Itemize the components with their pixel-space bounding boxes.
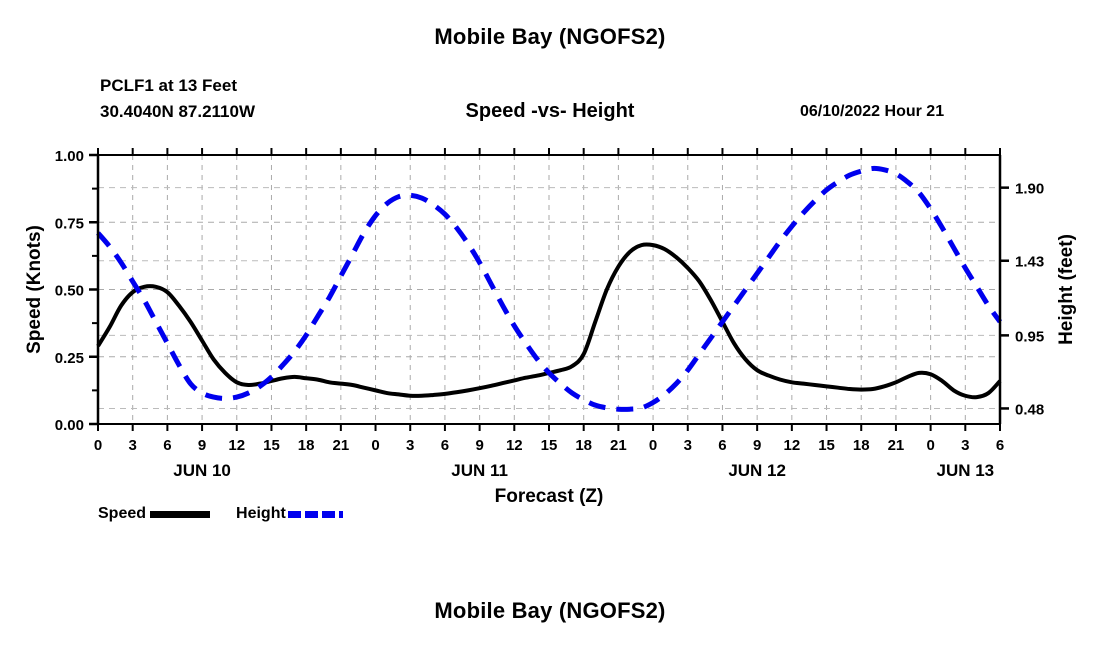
x-tick-label: 3 — [406, 437, 414, 454]
x-tick-label: 6 — [996, 437, 1004, 454]
x-tick-label: 0 — [371, 437, 379, 454]
y-left-tick-label: 0.00 — [55, 417, 84, 434]
x-tick-label: 0 — [94, 437, 102, 454]
x-tick-label: 21 — [333, 437, 350, 454]
y-axis-title-right: Height (feet) — [1056, 234, 1077, 345]
x-tick-label: 6 — [718, 437, 726, 454]
y-axis-title-left: Speed (Knots) — [24, 225, 45, 354]
x-tick-label: 9 — [753, 437, 761, 454]
x-day-label: JUN 12 — [728, 461, 786, 480]
x-tick-label: 15 — [541, 437, 558, 454]
y-left-tick-label: 0.75 — [55, 215, 84, 232]
y-left-tick-label: 1.00 — [55, 148, 84, 165]
legend-label-height: Height — [236, 505, 286, 523]
x-axis-title: Forecast (Z) — [495, 486, 604, 507]
x-tick-label: 6 — [163, 437, 171, 454]
legend-swatch-height — [288, 511, 343, 518]
legend-swatch-speed — [150, 511, 210, 518]
x-tick-label: 0 — [926, 437, 934, 454]
x-tick-label: 9 — [475, 437, 483, 454]
x-tick-label: 15 — [263, 437, 280, 454]
y-right-tick-label: 1.43 — [1015, 254, 1044, 271]
x-tick-label: 3 — [961, 437, 969, 454]
x-tick-label: 21 — [888, 437, 905, 454]
y-left-tick-label: 0.50 — [55, 283, 84, 300]
y-left-tick-label: 0.25 — [55, 350, 84, 367]
x-tick-label: 18 — [853, 437, 870, 454]
x-tick-label: 18 — [575, 437, 592, 454]
x-tick-label: 21 — [610, 437, 627, 454]
x-tick-label: 0 — [649, 437, 657, 454]
x-day-label: JUN 11 — [451, 461, 508, 480]
x-tick-label: 3 — [129, 437, 137, 454]
chart-plot-area: 0369121518210369121518210369121518210360… — [0, 0, 1100, 650]
x-day-label: JUN 13 — [936, 461, 994, 480]
page-title-bottom: Mobile Bay (NGOFS2) — [0, 598, 1100, 624]
chart-legend: Speed Height — [98, 505, 343, 523]
x-tick-label: 12 — [506, 437, 523, 454]
x-tick-label: 18 — [298, 437, 315, 454]
y-right-tick-label: 1.90 — [1015, 181, 1044, 198]
x-tick-label: 3 — [684, 437, 692, 454]
x-tick-label: 9 — [198, 437, 206, 454]
y-right-tick-label: 0.95 — [1015, 328, 1044, 345]
legend-label-speed: Speed — [98, 505, 146, 523]
x-tick-label: 12 — [784, 437, 801, 454]
y-right-tick-label: 0.48 — [1015, 401, 1044, 418]
x-tick-label: 12 — [228, 437, 245, 454]
x-tick-label: 15 — [818, 437, 835, 454]
chart-page: Mobile Bay (NGOFS2) PCLF1 at 13 Feet 30.… — [0, 0, 1100, 650]
x-day-label: JUN 10 — [173, 461, 231, 480]
gridlines — [98, 155, 1000, 424]
x-tick-label: 6 — [441, 437, 449, 454]
axis-labels: 0369121518210369121518210369121518210360… — [24, 148, 1077, 507]
